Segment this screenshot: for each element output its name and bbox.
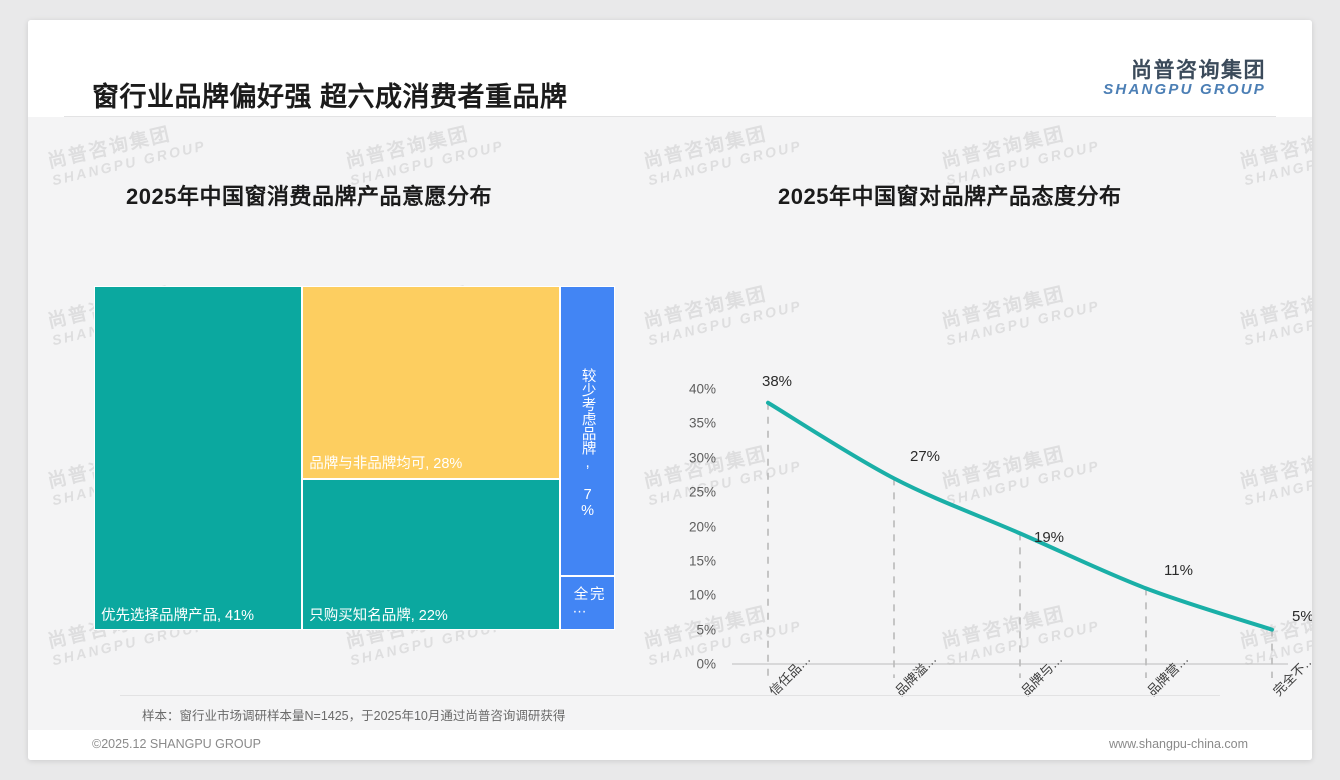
brand-logo-en: SHANGPU GROUP [1103, 82, 1266, 98]
treemap-tile[interactable]: 优先选择品牌产品, 41% [94, 286, 302, 630]
treemap-tile-label: 较少考虑品牌, 7% [579, 368, 595, 519]
brand-logo: 尚普咨询集团 SHANGPU GROUP [1103, 60, 1266, 98]
treemap-tile-label: 品牌与非品牌均可, 28% [309, 456, 462, 472]
treemap-tile[interactable]: 完全… [560, 576, 615, 630]
treemap-chart: 优先选择品牌产品, 41%品牌与非品牌均可, 28%只购买知名品牌, 22%较少… [94, 286, 615, 630]
data-point-label: 38% [762, 373, 792, 390]
watermark: 尚普咨询集团SHANGPU GROUP [344, 118, 506, 189]
data-point-label: 5% [1292, 608, 1312, 625]
treemap-tile-label: 优先选择品牌产品, 41% [101, 608, 254, 624]
data-point-label: 27% [910, 448, 940, 465]
left-chart-title: 2025年中国窗消费品牌产品意愿分布 [126, 179, 492, 211]
data-point-label: 19% [1034, 529, 1064, 546]
treemap-tile[interactable]: 较少考虑品牌, 7% [560, 286, 615, 576]
footnote-divider [120, 695, 1220, 696]
data-point-label: 11% [1164, 562, 1193, 579]
treemap-tile-label: 完全… [571, 586, 603, 629]
footnote-text: 样本：窗行业市场调研样本量N=1425，于2025年10月通过尚普咨询调研获得 [142, 705, 565, 724]
watermark: 尚普咨询集团SHANGPU GROUP [940, 118, 1102, 189]
slide-canvas: 窗行业品牌偏好强 超六成消费者重品牌 尚普咨询集团 SHANGPU GROUP … [28, 20, 1312, 760]
line-chart-plot [656, 277, 1296, 730]
treemap-tile[interactable]: 品牌与非品牌均可, 28% [302, 286, 560, 479]
slide-footer: ©2025.12 SHANGPU GROUP www.shangpu-china… [28, 730, 1312, 760]
watermark: 尚普咨询集团SHANGPU GROUP [1238, 118, 1312, 189]
page-title: 窗行业品牌偏好强 超六成消费者重品牌 [92, 75, 568, 114]
watermark: 尚普咨询集团SHANGPU GROUP [46, 118, 208, 189]
slide-header: 窗行业品牌偏好强 超六成消费者重品牌 尚普咨询集团 SHANGPU GROUP [28, 20, 1312, 117]
right-chart-title: 2025年中国窗对品牌产品态度分布 [778, 179, 1121, 211]
treemap-tile[interactable]: 只购买知名品牌, 22% [302, 479, 560, 630]
footer-copyright: ©2025.12 SHANGPU GROUP [92, 737, 261, 751]
watermark: 尚普咨询集团SHANGPU GROUP [642, 118, 804, 189]
brand-logo-cn: 尚普咨询集团 [1103, 60, 1266, 82]
treemap-tile-label: 只购买知名品牌, 22% [309, 608, 448, 624]
line-chart: 0%5%10%15%20%25%30%35%40%38%27%19%11%5%信… [656, 277, 1296, 730]
footer-website[interactable]: www.shangpu-china.com [1109, 737, 1248, 751]
content-panel: 尚普咨询集团SHANGPU GROUP尚普咨询集团SHANGPU GROUP尚普… [28, 117, 1312, 730]
